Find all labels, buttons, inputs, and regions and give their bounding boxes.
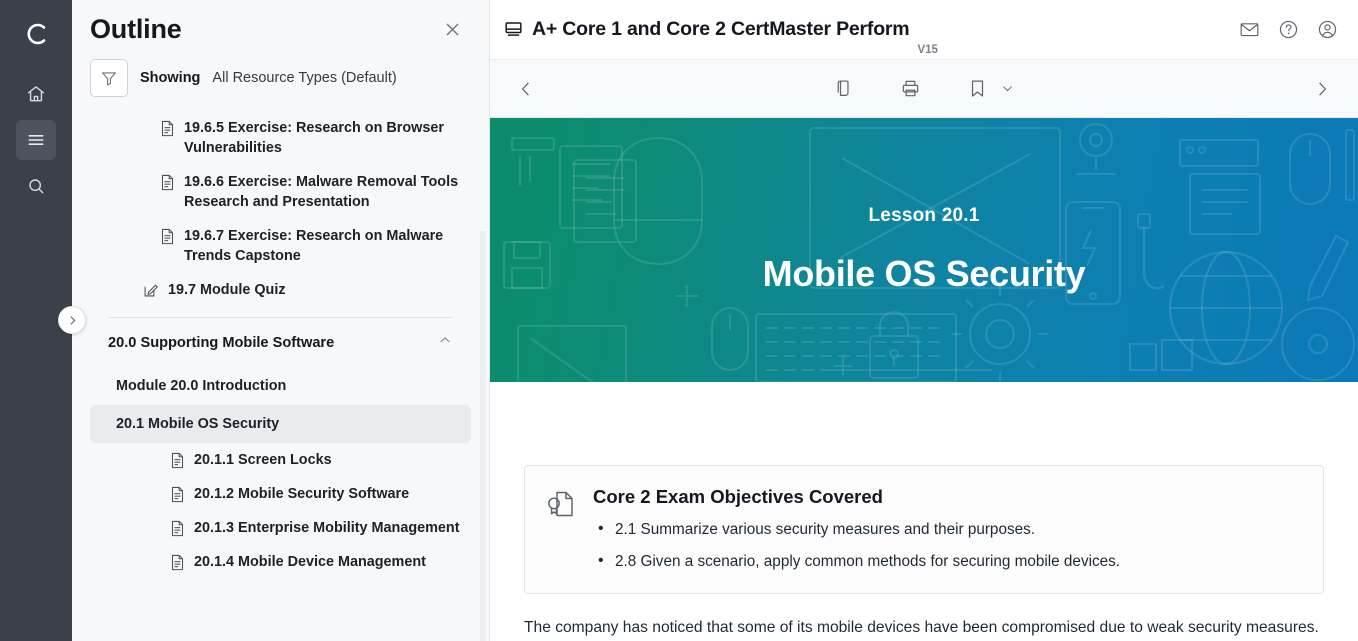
help-icon[interactable] bbox=[1278, 19, 1299, 40]
document-icon bbox=[168, 518, 186, 537]
showing-label: Showing bbox=[140, 70, 200, 86]
list-item[interactable]: 19.6.6 Exercise: Malware Removal Tools R… bbox=[90, 165, 471, 219]
document-icon bbox=[168, 552, 186, 571]
chevron-right-icon[interactable] bbox=[58, 306, 86, 334]
list-item-label: Module 20.0 Introduction bbox=[116, 376, 286, 396]
list-item-label: 20.1.3 Enterprise Mobility Management bbox=[194, 518, 460, 538]
scrollbar-track[interactable] bbox=[480, 231, 486, 641]
outline-tree: 19.6.5 Exercise: Research on Browser Vul… bbox=[72, 111, 489, 579]
list-item-label: 20.1.4 Mobile Device Management bbox=[194, 552, 426, 572]
list-item: 2.8 Given a scenario, apply common metho… bbox=[593, 551, 1301, 573]
book-icon bbox=[504, 20, 523, 39]
chevron-up-icon[interactable] bbox=[437, 332, 453, 353]
outline-panel: Outline Showing All Resource Types (Defa… bbox=[72, 0, 490, 641]
showing-value[interactable]: All Resource Types (Default) bbox=[212, 70, 396, 86]
list-item[interactable]: 20.1.1 Screen Locks bbox=[90, 443, 471, 477]
list-item[interactable]: 20.1.3 Enterprise Mobility Management bbox=[90, 511, 471, 545]
lesson-content: Lesson 20.1 Mobile OS Security Core 2 Ex… bbox=[490, 118, 1358, 641]
hero-lesson-title: Mobile OS Security bbox=[763, 253, 1086, 295]
rail-item-home[interactable] bbox=[16, 74, 56, 114]
quiz-edit-icon bbox=[142, 280, 160, 298]
list-item-label: 20.1 Mobile OS Security bbox=[116, 414, 279, 434]
list-item[interactable]: 19.6.7 Exercise: Research on Malware Tre… bbox=[90, 219, 471, 273]
close-icon[interactable] bbox=[437, 15, 467, 45]
hero-lesson-label: Lesson 20.1 bbox=[869, 205, 980, 227]
print-icon[interactable] bbox=[900, 78, 921, 99]
bookmark-icon[interactable] bbox=[967, 78, 988, 99]
list-item[interactable]: 19.6.5 Exercise: Research on Browser Vul… bbox=[90, 111, 471, 165]
course-title: A+ Core 1 and Core 2 CertMaster Perform bbox=[532, 18, 909, 41]
rail-item-outline[interactable] bbox=[16, 120, 56, 160]
document-icon bbox=[158, 226, 176, 245]
chevron-right-icon[interactable] bbox=[1312, 79, 1332, 99]
main-content: A+ Core 1 and Core 2 CertMaster Perform … bbox=[490, 0, 1358, 641]
outline-header: Outline bbox=[72, 0, 489, 51]
account-icon[interactable] bbox=[1317, 19, 1338, 40]
c-logo[interactable] bbox=[16, 14, 56, 54]
document-icon bbox=[158, 172, 176, 191]
hero-pattern-icon bbox=[490, 118, 1358, 382]
list-item[interactable]: 20.1.2 Mobile Security Software bbox=[90, 477, 471, 511]
filter-row: Showing All Resource Types (Default) bbox=[72, 51, 489, 111]
list-item-label: 19.6.7 Exercise: Research on Malware Tre… bbox=[184, 226, 465, 266]
page-title: Outline bbox=[90, 14, 182, 45]
document-icon bbox=[168, 450, 186, 469]
course-header: A+ Core 1 and Core 2 CertMaster Perform … bbox=[490, 0, 1358, 60]
app-root: Outline Showing All Resource Types (Defa… bbox=[0, 0, 1358, 641]
document-icon bbox=[168, 484, 186, 503]
document-icon bbox=[158, 118, 176, 137]
exam-objectives-box: Core 2 Exam Objectives Covered 2.1 Summa… bbox=[524, 465, 1324, 594]
lesson-paragraph: The company has noticed that some of its… bbox=[524, 615, 1324, 641]
objectives-list: 2.1 Summarize various security measures … bbox=[593, 519, 1301, 573]
rail-item-search[interactable] bbox=[16, 166, 56, 206]
outline-scroll-area: 19.6.5 Exercise: Research on Browser Vul… bbox=[72, 111, 489, 641]
outline-section-header[interactable]: 20.0 Supporting Mobile Software bbox=[94, 318, 467, 367]
list-item[interactable]: 19.7 Module Quiz bbox=[90, 273, 471, 307]
chevron-left-icon[interactable] bbox=[516, 79, 536, 99]
list-item-label: 19.6.5 Exercise: Research on Browser Vul… bbox=[184, 118, 465, 158]
list-item-label: 19.7 Module Quiz bbox=[168, 280, 286, 300]
list-item: 2.1 Summarize various security measures … bbox=[593, 519, 1301, 541]
version-badge: V15 bbox=[917, 44, 937, 56]
lesson-hero-banner: Lesson 20.1 Mobile OS Security bbox=[490, 118, 1358, 382]
outline-section-title: 20.0 Supporting Mobile Software bbox=[108, 335, 334, 351]
sidebar-item-module-intro[interactable]: Module 20.0 Introduction bbox=[90, 367, 471, 405]
objectives-title: Core 2 Exam Objectives Covered bbox=[593, 486, 1301, 508]
mail-icon[interactable] bbox=[1239, 19, 1260, 40]
chevron-down-icon[interactable] bbox=[1000, 81, 1015, 96]
certificate-document-icon bbox=[545, 486, 579, 573]
list-item-label: 19.6.6 Exercise: Malware Removal Tools R… bbox=[184, 172, 465, 212]
list-item[interactable]: 20.1.4 Mobile Device Management bbox=[90, 545, 471, 579]
copy-icon[interactable] bbox=[833, 78, 854, 99]
reader-toolbar bbox=[490, 60, 1358, 118]
filter-icon[interactable] bbox=[90, 59, 128, 97]
sidebar-item-mobile-os-security[interactable]: 20.1 Mobile OS Security bbox=[90, 405, 471, 443]
list-item-label: 20.1.2 Mobile Security Software bbox=[194, 484, 409, 504]
list-item-label: 20.1.1 Screen Locks bbox=[194, 450, 332, 470]
